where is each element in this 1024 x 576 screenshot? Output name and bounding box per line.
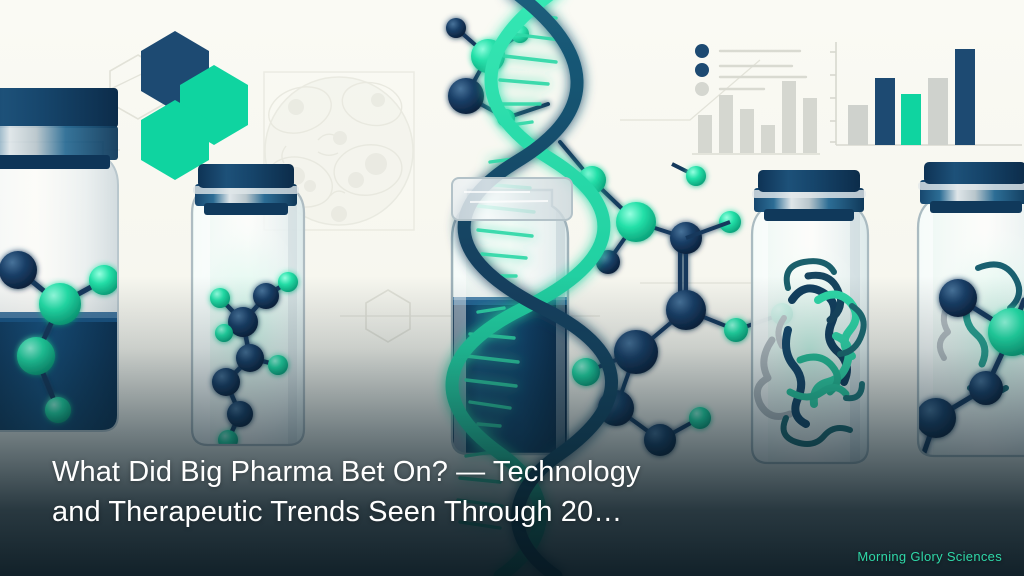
- slide-canvas: What Did Big Pharma Bet On? — Technology…: [0, 0, 1024, 576]
- vial-right-edge: [916, 162, 1024, 470]
- brand-label: Morning Glory Sciences: [857, 549, 1002, 564]
- vial-left-edge: [0, 88, 135, 438]
- vial-center-cap: [452, 178, 572, 220]
- vial-protein: [746, 170, 874, 465]
- vial-molecule: [185, 164, 309, 450]
- title-line-2: and Therapeutic Trends Seen Through 20…: [52, 492, 812, 532]
- title-line-1: What Did Big Pharma Bet On? — Technology: [52, 452, 812, 492]
- title-block: What Did Big Pharma Bet On? — Technology…: [52, 452, 812, 532]
